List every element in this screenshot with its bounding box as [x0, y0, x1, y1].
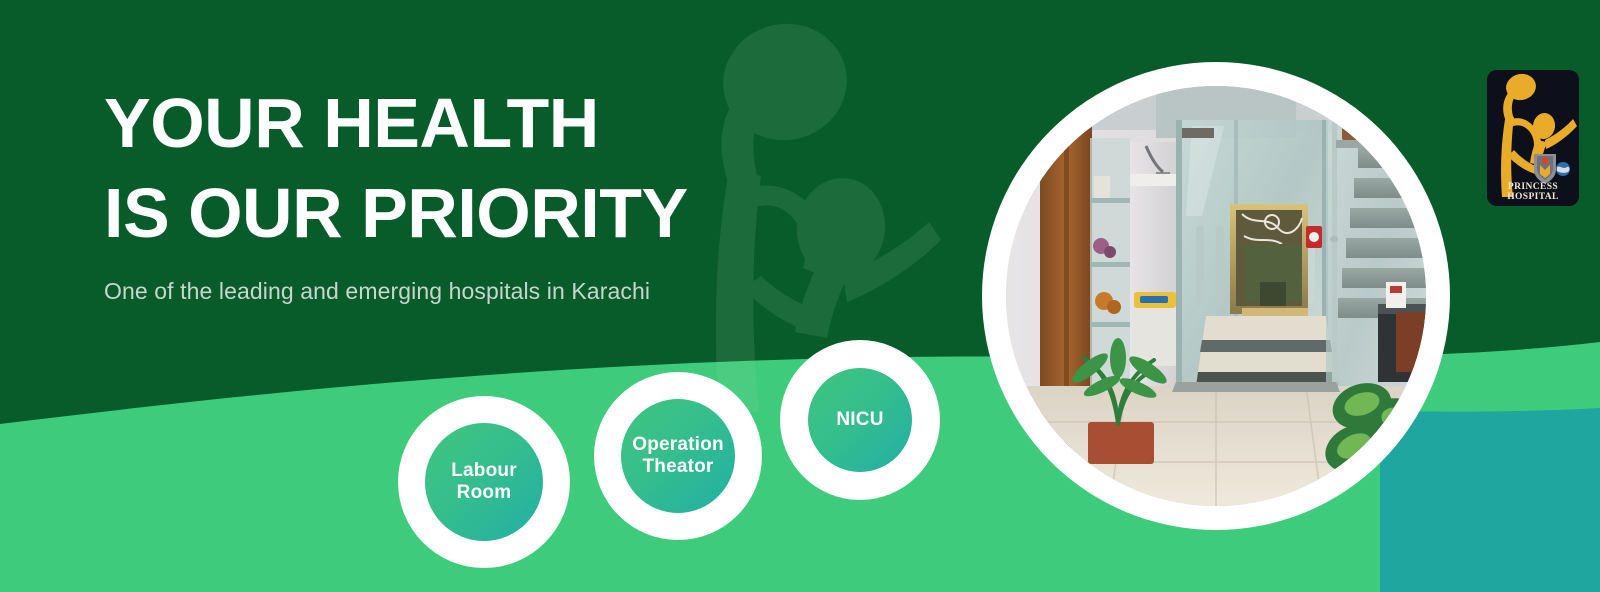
badge-label: Labour Room — [451, 460, 517, 505]
hero-banner: YOUR HEALTH IS OUR PRIORITY One of the l… — [0, 0, 1600, 592]
badge-label: NICU — [836, 409, 883, 431]
logo-line1: PRINCESS — [1508, 182, 1558, 192]
logo-line2: HOSPITAL — [1507, 192, 1559, 202]
sidebar-item-operation-theator[interactable]: Operation Theator — [594, 372, 762, 540]
badge-inner-circle: NICU — [808, 368, 912, 472]
page-title: YOUR HEALTH IS OUR PRIORITY — [104, 78, 884, 258]
globe-icon — [1556, 162, 1570, 176]
hospital-lobby-photo — [982, 62, 1450, 530]
sidebar-item-nicu[interactable]: NICU — [780, 340, 940, 500]
badge-label: Operation Theator — [632, 434, 724, 479]
princess-hospital-logo[interactable]: PRINCESS HOSPITAL — [1487, 70, 1579, 206]
photo-clip — [1006, 86, 1426, 506]
badge-inner-circle: Operation Theator — [621, 399, 735, 513]
sidebar-item-labour-room[interactable]: Labour Room — [398, 396, 570, 568]
badge-inner-circle: Labour Room — [425, 423, 543, 541]
headline-block: YOUR HEALTH IS OUR PRIORITY One of the l… — [104, 78, 884, 306]
page-subtitle: One of the leading and emerging hospital… — [104, 276, 884, 306]
